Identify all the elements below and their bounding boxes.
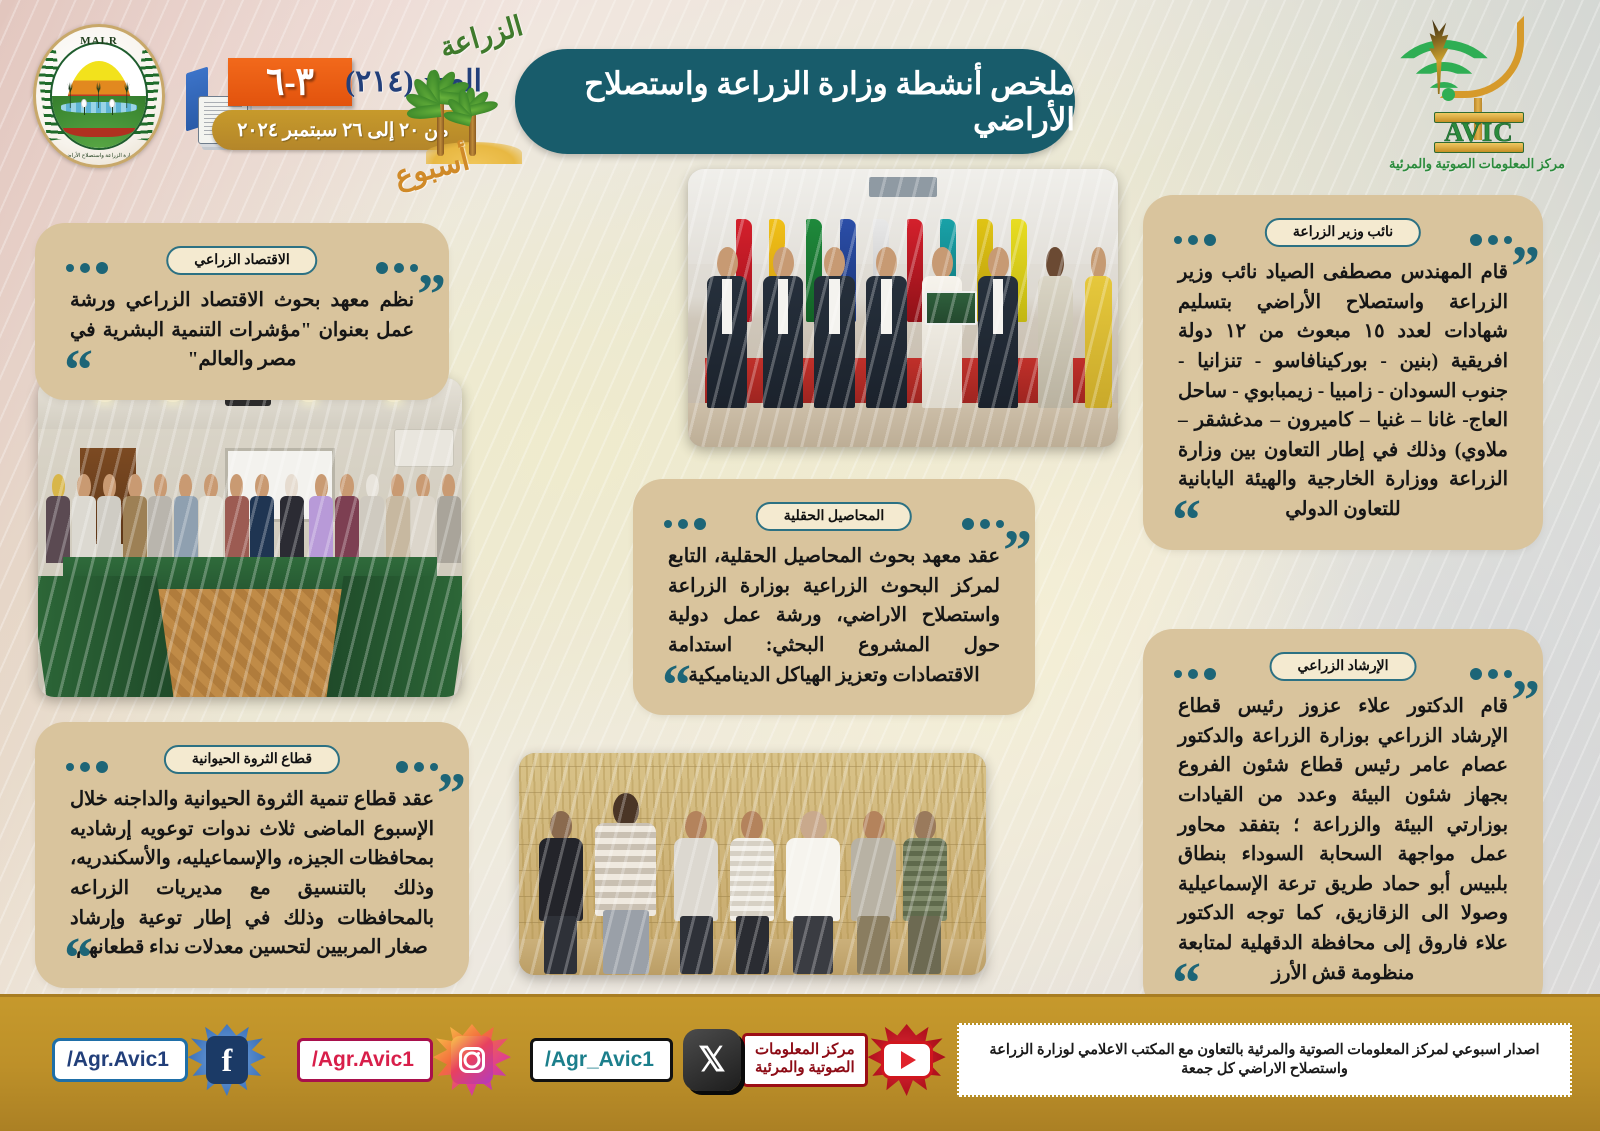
dots-left-icon	[664, 518, 706, 530]
footer-disclaimer-text: اصدار اسبوعي لمركز المعلومات الصوتية وال…	[975, 1041, 1554, 1079]
card-body-text: قام الدكتور علاء عزوز رئيس قطاع الإرشاد …	[1148, 690, 1538, 1008]
header-band: MALR وزارة الزراعة واستصلاح الأراضي ٣-٦ …	[0, 0, 1600, 178]
broadcast-source-dot	[1442, 88, 1455, 101]
x-twitter-link[interactable]: 𝕏 /Agr_Avic1	[528, 1024, 751, 1096]
cotton-boll-icon	[81, 99, 87, 108]
facebook-handle[interactable]: /Agr.Avic1	[52, 1038, 188, 1082]
instagram-handle[interactable]: /Agr.Avic1	[297, 1038, 433, 1082]
issue-page-range-label: ٣-٦	[266, 59, 314, 105]
card-header: الإرشاد الزراعي	[1148, 646, 1538, 690]
avic-subtitle: مركز المعلومات الصوتية والمرئية	[1382, 156, 1572, 172]
agriculture-week-logo: الزراعة	[392, 14, 528, 182]
instagram-splat	[433, 1024, 511, 1096]
card-label: المحاصيل الحقلية	[756, 502, 912, 531]
facebook-icon: f	[206, 1036, 248, 1084]
facebook-link[interactable]: f /Agr.Avic1	[60, 1024, 266, 1096]
dots-right-icon	[1470, 668, 1512, 680]
footer-bar: f /Agr.Avic1 /Agr.Avic1 𝕏 /Agr_Avic1	[0, 994, 1600, 1131]
certificate-prop	[925, 291, 977, 325]
week-logo-bottom-label: أسبوع	[391, 142, 473, 194]
card-label: نائب وزير الزراعة	[1265, 218, 1421, 247]
week-logo-top-label: الزراعة	[436, 9, 527, 65]
card-label: الإرشاد الزراعي	[1270, 652, 1417, 681]
quote-close-icon: “	[1172, 491, 1201, 549]
instagram-link[interactable]: /Agr.Avic1	[305, 1024, 511, 1096]
people-row	[38, 474, 462, 563]
infographic-page: MALR وزارة الزراعة واستصلاح الأراضي ٣-٦ …	[0, 0, 1600, 1131]
youtube-channel-line2: الصوتية والمرئية	[755, 1060, 855, 1078]
x-twitter-handle[interactable]: /Agr_Avic1	[530, 1038, 673, 1082]
photo-workshop-meeting	[38, 378, 462, 697]
dots-right-icon	[376, 262, 418, 274]
youtube-link[interactable]: مركز المعلومات الصوتية والمرئية	[748, 1024, 946, 1096]
avic-logo: AVIC مركز المعلومات الصوتية والمرئية	[1382, 6, 1572, 186]
seal-outer-ring: MALR وزارة الزراعة واستصلاح الأراضي	[33, 24, 165, 168]
issue-page-range-badge: ٣-٦	[228, 58, 352, 106]
river-shape	[61, 102, 136, 112]
page-title: ملخص أنشطة وزارة الزراعة واستصلاح الأراض…	[515, 49, 1075, 154]
ceiling-vent-shape	[869, 177, 938, 196]
dots-left-icon	[66, 761, 108, 773]
dots-right-icon	[1470, 234, 1512, 246]
seal-inner-disc	[50, 42, 148, 150]
x-splat: 𝕏	[673, 1024, 751, 1096]
meeting-table-left-shape	[38, 576, 174, 697]
quote-close-icon: “	[64, 929, 93, 987]
dots-left-icon	[1174, 668, 1216, 680]
card-agricultural-economy: ” “ الاقتصاد الزراعي نظم معهد بحوث الاقت…	[40, 228, 444, 395]
card-deputy-minister: ” “ نائب وزير الزراعة قام المهندس مصطفى …	[1148, 200, 1538, 545]
card-label: الاقتصاد الزراعي	[166, 246, 317, 275]
dots-left-icon	[1174, 234, 1216, 246]
air-conditioner-shape	[394, 429, 453, 467]
card-livestock-sector: ” “ قطاع الثروة الحيوانية عقد قطاع تنمية…	[40, 727, 464, 983]
youtube-channel-label[interactable]: مركز المعلومات الصوتية والمرئية	[742, 1033, 868, 1087]
card-field-crops: ” “ المحاصيل الحقلية عقد معهد بحوث المحا…	[638, 484, 1030, 710]
dots-left-icon	[66, 262, 108, 274]
parquet-floor-shape	[148, 589, 352, 697]
quote-close-icon: “	[64, 341, 93, 399]
page-title-text: ملخص أنشطة وزارة الزراعة واستصلاح الأراض…	[515, 66, 1075, 138]
quote-close-icon: “	[662, 656, 691, 714]
avic-bar-bottom	[1434, 142, 1524, 153]
youtube-icon	[881, 1041, 933, 1079]
youtube-splat	[868, 1024, 946, 1096]
seal-ministry-name: وزارة الزراعة واستصلاح الأراضي	[36, 153, 162, 159]
card-label: قطاع الثروة الحيوانية	[164, 745, 340, 774]
facebook-splat: f	[188, 1024, 266, 1096]
x-twitter-icon: 𝕏	[683, 1029, 741, 1091]
card-header: المحاصيل الحقلية	[638, 496, 1030, 540]
instagram-icon	[451, 1036, 493, 1084]
dots-right-icon	[962, 518, 1004, 530]
card-header: نائب وزير الزراعة	[1148, 212, 1538, 256]
malr-ministry-logo: MALR وزارة الزراعة واستصلاح الأراضي	[33, 24, 165, 168]
broadcast-waves-icon	[1444, 18, 1534, 102]
photo-certificate-ceremony	[688, 169, 1118, 447]
card-agricultural-extension: ” “ الإرشاد الزراعي قام الدكتور علاء عزو…	[1148, 634, 1538, 1008]
card-body-text: عقد قطاع تنمية الثروة الحيوانية والداجنه…	[40, 783, 464, 983]
card-body-text: عقد معهد بحوث المحاصيل الحقلية، التابع ل…	[638, 540, 1030, 710]
youtube-channel-line1: مركز المعلومات	[755, 1042, 855, 1060]
meeting-table-right-shape	[326, 576, 462, 697]
photo-field-visit	[519, 753, 986, 975]
card-body-text: نظم معهد بحوث الاقتصاد الزراعي ورشة عمل …	[40, 284, 444, 395]
card-header: الاقتصاد الزراعي	[40, 240, 444, 284]
seal-acronym: MALR	[36, 35, 162, 47]
dots-right-icon	[396, 761, 438, 773]
card-header: قطاع الثروة الحيوانية	[40, 739, 464, 783]
footer-disclaimer: اصدار اسبوعي لمركز المعلومات الصوتية وال…	[957, 1023, 1572, 1097]
palm-crown-shape	[438, 76, 506, 116]
card-body-text: قام المهندس مصطفى الصياد نائب وزير الزرا…	[1148, 256, 1538, 545]
play-triangle-icon	[901, 1051, 916, 1069]
